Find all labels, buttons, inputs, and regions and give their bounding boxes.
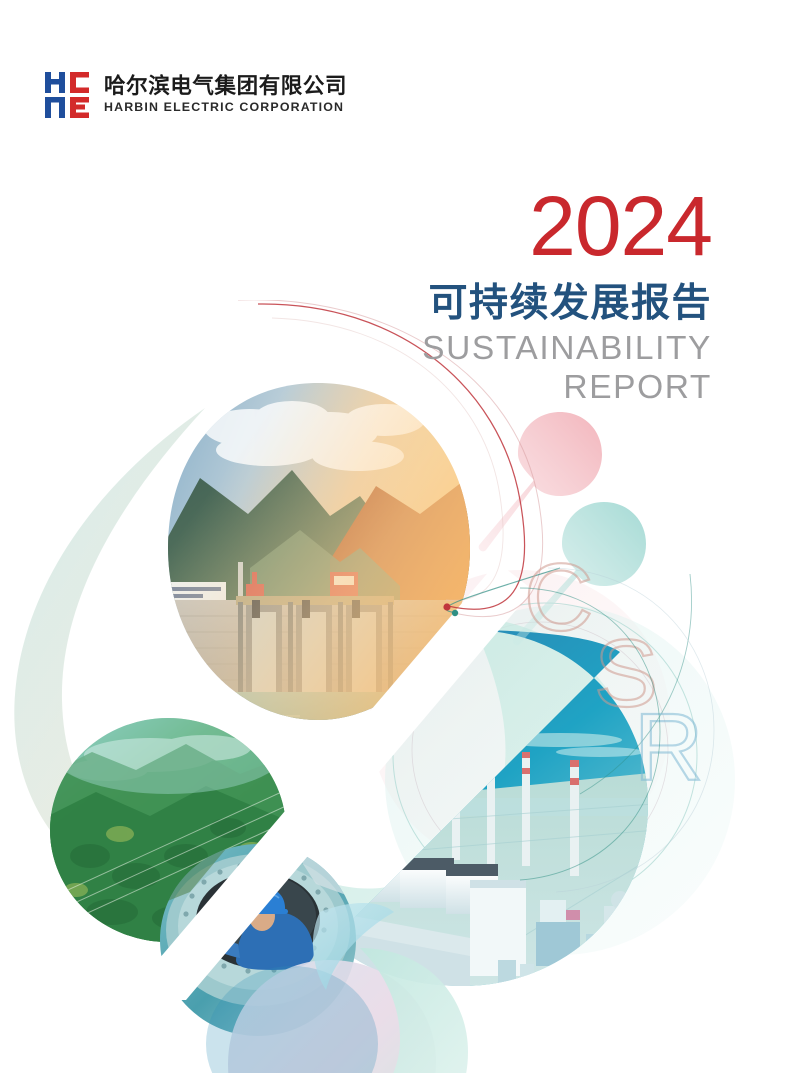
company-name-en: HARBIN ELECTRIC CORPORATION <box>104 101 347 114</box>
cover-title-block: 2024 可持续发展报告 SUSTAINABILITY REPORT <box>422 186 712 406</box>
report-title-en-2: REPORT <box>422 370 712 407</box>
csr-letter-r: R <box>634 694 703 801</box>
hec-logo-mark-icon <box>44 70 91 120</box>
company-logo: 哈尔滨电气集团有限公司 HARBIN ELECTRIC CORPORATION <box>44 70 347 120</box>
csr-letter-c: C <box>524 544 593 651</box>
cover-artwork: C S R <box>0 300 790 1073</box>
logo-wordmark: 哈尔滨电气集团有限公司 HARBIN ELECTRIC CORPORATION <box>104 76 347 114</box>
report-year: 2024 <box>422 186 712 267</box>
company-name-cn: 哈尔滨电气集团有限公司 <box>104 76 347 99</box>
report-title-en-1: SUSTAINABILITY <box>422 331 712 368</box>
report-cover-page: 哈尔滨电气集团有限公司 HARBIN ELECTRIC CORPORATION … <box>0 0 790 1073</box>
report-title-cn: 可持续发展报告 <box>422 283 712 325</box>
